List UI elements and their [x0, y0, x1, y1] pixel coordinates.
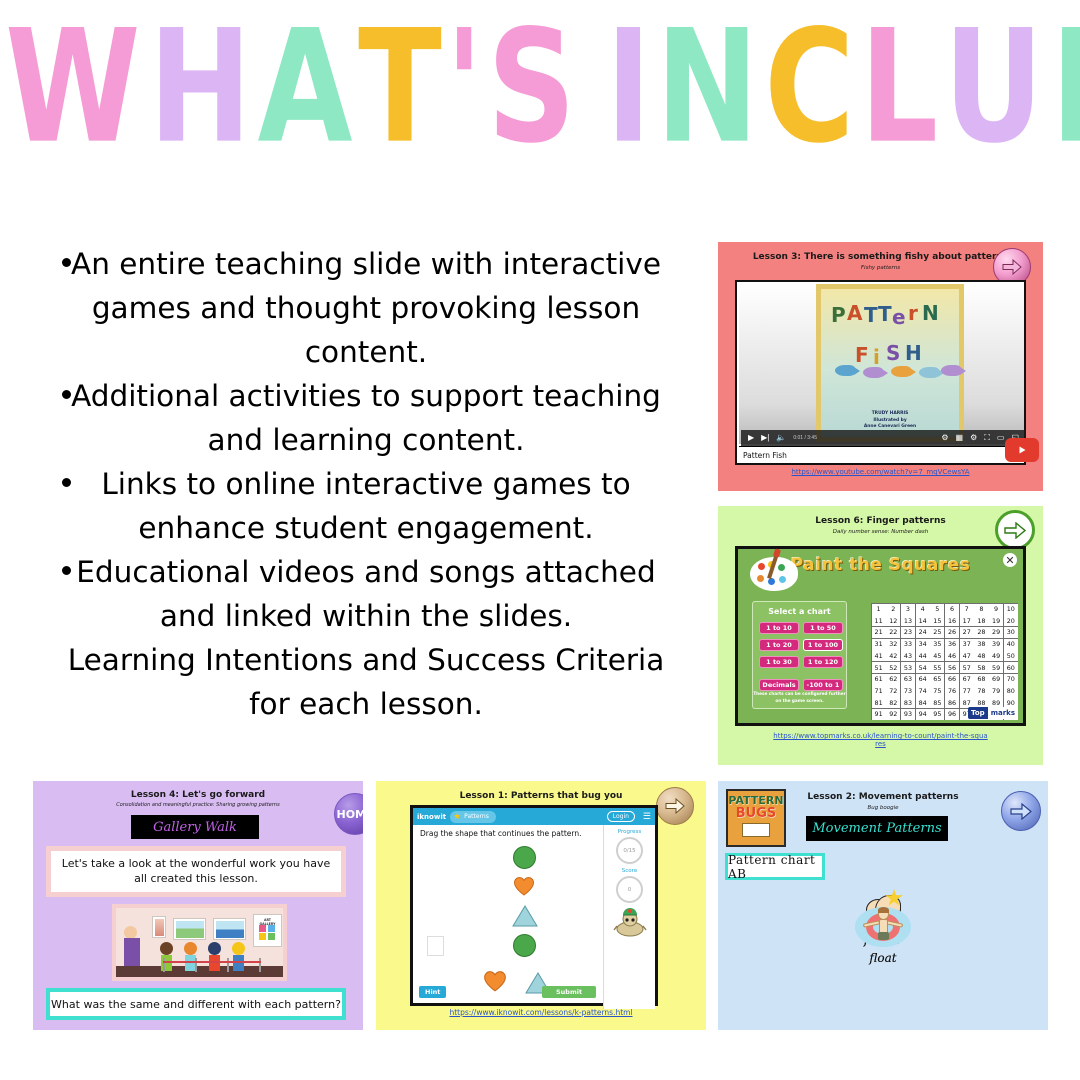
arrow-right-icon: [1004, 522, 1026, 539]
grid-cell-30[interactable]: 30: [1004, 627, 1018, 638]
app-header-bar: iknowit ★ Patterns Login ☰: [413, 808, 655, 825]
grid-cell-56[interactable]: 56: [945, 662, 959, 673]
video-time: 0:01 / 3:45: [793, 436, 817, 441]
grid-cell-91[interactable]: 91: [872, 709, 886, 720]
grid-cell-69[interactable]: 69: [989, 674, 1003, 685]
frame-poster: ART GALLERY: [253, 914, 282, 947]
grid-cell-20[interactable]: 20: [1004, 615, 1018, 626]
chart-button-1-to-20[interactable]: 1 to 20: [759, 639, 799, 651]
grid-cell-43[interactable]: 43: [901, 650, 915, 661]
chart-button-1-to-120[interactable]: 1 to 120: [803, 656, 843, 668]
feature-text: Additional activities to support teachin…: [36, 374, 696, 462]
chart-button--100-to-1[interactable]: -100 to 1: [803, 679, 843, 691]
arrow-right-icon: [1010, 803, 1032, 820]
page-title: WHAT'S INCLUDED: [0, 26, 1080, 176]
grid-cell-79[interactable]: 79: [989, 685, 1003, 696]
grid-cell-61[interactable]: 61: [872, 674, 886, 685]
title-letter-0: W: [5, 0, 139, 176]
bullet-dot-icon: [62, 478, 71, 487]
grid-cell-70[interactable]: 70: [1004, 674, 1018, 685]
gallery-floor: [116, 966, 283, 977]
student-figure: [208, 942, 221, 971]
grid-cell-4[interactable]: 4: [916, 604, 930, 615]
score-gauge: 0: [616, 876, 643, 903]
game-prompt: Drag the shape that continues the patter…: [420, 829, 581, 838]
grid-cell-34[interactable]: 34: [916, 639, 930, 650]
progress-label: Progress: [604, 829, 655, 835]
grid-cell-62[interactable]: 62: [886, 674, 900, 685]
chart-button-1-to-100[interactable]: 1 to 100: [803, 639, 843, 651]
grid-cell-51[interactable]: 51: [872, 662, 886, 673]
bullet-dot-icon: [62, 566, 71, 575]
lesson6-source-url[interactable]: https://www.topmarks.co.uk/learning-to-c…: [718, 732, 1043, 748]
grid-cell-81[interactable]: 81: [872, 697, 886, 708]
drop-target-blank[interactable]: [427, 936, 444, 956]
title-letter-1: H: [148, 0, 250, 176]
grid-cell-50[interactable]: 50: [1004, 650, 1018, 661]
lesson4-title: Lesson 4: Let's go forward: [33, 790, 363, 800]
grid-cell-14[interactable]: 14: [916, 615, 930, 626]
iknowit-game-embed[interactable]: iknowit ★ Patterns Login ☰ Drag the shap…: [410, 805, 658, 1006]
grid-cell-13[interactable]: 13: [901, 615, 915, 626]
next-track-icon[interactable]: ▶|: [761, 434, 769, 442]
grid-cell-45[interactable]: 45: [930, 650, 944, 661]
iknowit-logo: iknowit: [417, 813, 446, 821]
grid-cell-59[interactable]: 59: [989, 662, 1003, 673]
grid-cell-32[interactable]: 32: [886, 639, 900, 650]
grid-cell-46[interactable]: 46: [945, 650, 959, 661]
grid-cell-1[interactable]: 1: [872, 604, 886, 615]
grid-cell-58[interactable]: 58: [974, 662, 988, 673]
grid-cell-5[interactable]: 5: [930, 604, 944, 615]
next-arrow-button-lesson6[interactable]: [995, 510, 1035, 550]
grid-cell-31[interactable]: 31: [872, 639, 886, 650]
feature-text: Links to online interactive games to enh…: [36, 462, 696, 550]
arrow-right-icon: [1002, 259, 1022, 275]
grid-cell-35[interactable]: 35: [930, 639, 944, 650]
chart-button-1-to-10[interactable]: 1 to 10: [759, 622, 799, 634]
grid-cell-2[interactable]: 2: [886, 604, 900, 615]
title-letter-8: N: [656, 0, 758, 176]
settings-icon[interactable]: ⚙: [970, 434, 977, 442]
paint-palette-icon: [750, 557, 798, 591]
grid-cell-3[interactable]: 3: [901, 604, 915, 615]
grid-cell-39[interactable]: 39: [989, 639, 1003, 650]
pattern-bugs-book-cover: PATTERN BUGS: [726, 789, 786, 847]
grid-cell-78[interactable]: 78: [974, 685, 988, 696]
grid-cell-16[interactable]: 16: [945, 615, 959, 626]
tab-patterns[interactable]: ★ Patterns: [450, 811, 496, 823]
frame-portrait: [152, 916, 166, 938]
grid-cell-66[interactable]: 66: [945, 674, 959, 685]
lesson3-source-url[interactable]: https://www.youtube.com/watch?v=7_mqVCew…: [718, 468, 1043, 476]
grid-cell-65[interactable]: 65: [930, 674, 944, 685]
whats-included-page: WHAT'S INCLUDED An entire teaching slide…: [0, 0, 1080, 1080]
miniplayer-icon[interactable]: ⛶: [984, 434, 990, 442]
grid-cell-73[interactable]: 73: [901, 685, 915, 696]
grid-cell-74[interactable]: 74: [916, 685, 930, 696]
feature-item: Learning Intentions and Success Criteria…: [36, 638, 696, 726]
video-frame[interactable]: P A T T e r N F i S H: [739, 284, 1024, 444]
grid-cell-44[interactable]: 44: [916, 650, 930, 661]
grid-cell-11[interactable]: 11: [872, 615, 886, 626]
hamburger-menu-icon[interactable]: ☰: [643, 811, 651, 822]
feature-text: An entire teaching slide with interactiv…: [36, 242, 696, 374]
title-letter-2: A: [258, 0, 352, 176]
arrow-right-icon: [665, 798, 685, 814]
feature-item: Links to online interactive games to enh…: [36, 462, 696, 550]
student-figure: [232, 942, 245, 971]
grid-cell-96[interactable]: 96: [945, 709, 959, 720]
gallery-illustration: ART GALLERY: [112, 904, 287, 981]
grid-cell-6[interactable]: 6: [945, 604, 959, 615]
grid-cell-83[interactable]: 83: [901, 697, 915, 708]
grid-cell-75[interactable]: 75: [930, 685, 944, 696]
feature-item: Educational videos and songs attached an…: [36, 550, 696, 638]
bullet-dot-icon: [62, 258, 71, 267]
answer-choice-heart[interactable]: [483, 970, 505, 990]
slide-thumbnail-lesson-6[interactable]: Lesson 6: Finger patterns Daily number s…: [718, 506, 1043, 765]
next-arrow-button-lesson2[interactable]: [1001, 791, 1041, 831]
video-embed-lesson3[interactable]: P A T T e r N F i S H: [735, 280, 1026, 465]
grid-cell-7[interactable]: 7: [960, 604, 974, 615]
pattern-chart-label: Pattern chart AB: [725, 853, 825, 880]
pattern-shape-circle[interactable]: [513, 846, 536, 869]
title-letter-11: U: [944, 0, 1043, 176]
paint-the-squares-game[interactable]: Paint the Squares ✕ Select a chart 1 to …: [735, 546, 1026, 726]
captions-icon[interactable]: ▦: [956, 434, 964, 442]
features-list: An entire teaching slide with interactiv…: [36, 242, 696, 726]
feature-text: Learning Intentions and Success Criteria…: [36, 638, 696, 726]
hint-button[interactable]: Hint: [419, 986, 446, 998]
grid-cell-48[interactable]: 48: [974, 650, 988, 661]
gallery-walk-banner: Gallery Walk: [131, 815, 259, 839]
lesson4-body-box: Let's take a look at the wonderful work …: [46, 846, 346, 897]
title-letter-4: ': [446, 0, 483, 176]
gear-icon[interactable]: ⚙: [941, 434, 948, 442]
lesson4-question-box: What was the same and different with eac…: [46, 988, 346, 1020]
close-icon[interactable]: ✕: [1003, 553, 1017, 567]
grid-cell-19[interactable]: 19: [989, 615, 1003, 626]
play-triangle-icon: [1016, 444, 1028, 456]
grid-cell-67[interactable]: 67: [960, 674, 974, 685]
grid-cell-23[interactable]: 23: [901, 627, 915, 638]
grid-cell-72[interactable]: 72: [886, 685, 900, 696]
grid-cell-71[interactable]: 71: [872, 685, 886, 696]
grid-cell-93[interactable]: 93: [901, 709, 915, 720]
title-letter-7: I: [605, 0, 650, 176]
book-cover-lettering: P A T T e r N F i S H: [829, 303, 961, 389]
student-figure: [160, 942, 173, 971]
grid-cell-76[interactable]: 76: [945, 685, 959, 696]
grid-cell-33[interactable]: 33: [901, 639, 915, 650]
grid-cell-18[interactable]: 18: [974, 615, 988, 626]
youtube-badge[interactable]: [1005, 438, 1039, 462]
chart-selection-panel[interactable]: Select a chart 1 to 101 to 501 to 201 to…: [752, 601, 847, 709]
lesson4-subtitle: Consolidation and meaningful practice: S…: [33, 802, 363, 808]
pattern-shape-heart[interactable]: [513, 876, 535, 896]
book-cover-pattern-fish: P A T T e r N F i S H: [816, 284, 964, 442]
grid-cell-60[interactable]: 60: [1004, 662, 1018, 673]
grid-cell-29[interactable]: 29: [989, 627, 1003, 638]
grid-cell-38[interactable]: 38: [974, 639, 988, 650]
floating-child-icon: [855, 905, 911, 949]
slide-thumbnail-lesson-4[interactable]: Lesson 4: Let's go forward Consolidation…: [33, 781, 363, 1030]
grid-cell-12[interactable]: 12: [886, 615, 900, 626]
topmarks-logo: Top marks: [968, 707, 1018, 719]
grid-cell-37[interactable]: 37: [960, 639, 974, 650]
grid-cell-77[interactable]: 77: [960, 685, 974, 696]
grid-cell-63[interactable]: 63: [901, 674, 915, 685]
bullet-dot-icon: [62, 390, 71, 399]
grid-cell-28[interactable]: 28: [974, 627, 988, 638]
movement-patterns-banner: Movement Patterns: [806, 816, 948, 841]
grid-cell-95[interactable]: 95: [930, 709, 944, 720]
grid-cell-24[interactable]: 24: [916, 627, 930, 638]
grid-cell-25[interactable]: 25: [930, 627, 944, 638]
grid-cell-49[interactable]: 49: [989, 650, 1003, 661]
grid-cell-52[interactable]: 52: [886, 662, 900, 673]
progress-gauge: 0/15: [616, 837, 643, 864]
grid-cell-41[interactable]: 41: [872, 650, 886, 661]
title-letter-10: L: [860, 0, 937, 176]
teacher-figure: [124, 926, 144, 966]
slide-thumbnail-lesson-1[interactable]: Lesson 1: Patterns that bug you iknowit …: [376, 781, 706, 1030]
video-controls-bar[interactable]: ▶ ▶| 🔈 0:01 / 3:45 ⚙ ▦ ⚙ ⛶ ▭ ◱: [741, 430, 1026, 446]
star-icon: ★: [453, 812, 461, 822]
title-letter-6: [578, 26, 604, 176]
grid-cell-15[interactable]: 15: [930, 615, 944, 626]
grid-cell-8[interactable]: 8: [974, 604, 988, 615]
grid-cell-53[interactable]: 53: [901, 662, 915, 673]
login-button[interactable]: Login: [607, 811, 635, 822]
pattern-shape-triangle[interactable]: [512, 905, 538, 932]
mascot-bug-icon: [611, 902, 649, 940]
chart-button-1-to-50[interactable]: 1 to 50: [803, 622, 843, 634]
grid-cell-36[interactable]: 36: [945, 639, 959, 650]
grid-cell-57[interactable]: 57: [960, 662, 974, 673]
grid-cell-42[interactable]: 42: [886, 650, 900, 661]
chart-button-1-to-30[interactable]: 1 to 30: [759, 656, 799, 668]
panel-title: Select a chart: [753, 607, 846, 616]
grid-cell-68[interactable]: 68: [974, 674, 988, 685]
video-caption: Pattern Fish: [739, 446, 1024, 463]
movement-label: float: [855, 951, 911, 965]
title-letter-3: T: [358, 0, 441, 176]
grid-cell-55[interactable]: 55: [930, 662, 944, 673]
grid-cell-21[interactable]: 21: [872, 627, 886, 638]
number-grid[interactable]: 1234567891011121314151617181920212223242…: [871, 603, 1018, 720]
theater-mode-icon[interactable]: ▭: [997, 434, 1005, 442]
slide-thumbnail-lesson-3[interactable]: Lesson 3: There is something fishy about…: [718, 242, 1043, 491]
grid-cell-40[interactable]: 40: [1004, 639, 1018, 650]
feature-item: Additional activities to support teachin…: [36, 374, 696, 462]
chart-button-decimals[interactable]: Decimals: [759, 679, 799, 691]
feature-item: An entire teaching slide with interactiv…: [36, 242, 696, 374]
lesson6-title: Lesson 6: Finger patterns: [718, 516, 1043, 526]
grid-cell-86[interactable]: 86: [945, 697, 959, 708]
next-arrow-button-lesson1[interactable]: [656, 787, 694, 825]
grid-cell-47[interactable]: 47: [960, 650, 974, 661]
grid-cell-22[interactable]: 22: [886, 627, 900, 638]
grid-cell-10[interactable]: 10: [1004, 604, 1018, 615]
title-letter-9: C: [765, 0, 854, 176]
grid-cell-17[interactable]: 17: [960, 615, 974, 626]
pattern-shape-circle[interactable]: [513, 934, 536, 957]
grid-cell-54[interactable]: 54: [916, 662, 930, 673]
frame-landscape: [173, 918, 206, 940]
submit-button[interactable]: Submit: [542, 986, 596, 998]
slide-thumbnail-lesson-2[interactable]: Lesson 2: Movement patterns Bug boogie P…: [718, 781, 1048, 1030]
grid-cell-26[interactable]: 26: [945, 627, 959, 638]
grid-cell-85[interactable]: 85: [930, 697, 944, 708]
grid-cell-94[interactable]: 94: [916, 709, 930, 720]
book-cover-credits: TRUDY HARRIS Illustrated by Anne Canevar…: [821, 411, 959, 431]
score-label: Score: [604, 868, 655, 874]
grid-cell-64[interactable]: 64: [916, 674, 930, 685]
volume-icon[interactable]: 🔈: [776, 434, 786, 442]
home-button[interactable]: HOME: [334, 793, 363, 835]
frame-seascape: [213, 918, 246, 940]
grid-cell-84[interactable]: 84: [916, 697, 930, 708]
grid-cell-27[interactable]: 27: [960, 627, 974, 638]
feature-text: Educational videos and songs attached an…: [36, 550, 696, 638]
movement-item-float: float: [855, 905, 911, 965]
grid-cell-80[interactable]: 80: [1004, 685, 1018, 696]
grid-cell-82[interactable]: 82: [886, 697, 900, 708]
grid-cell-9[interactable]: 9: [989, 604, 1003, 615]
play-icon[interactable]: ▶: [748, 434, 754, 442]
panel-note: These charts can be configured further o…: [753, 691, 846, 704]
lesson1-source-url[interactable]: https://www.iknowit.com/lessons/k-patter…: [376, 1009, 706, 1018]
title-letter-12: D: [1050, 0, 1080, 176]
grid-cell-92[interactable]: 92: [886, 709, 900, 720]
title-letter-5: S: [487, 0, 574, 176]
